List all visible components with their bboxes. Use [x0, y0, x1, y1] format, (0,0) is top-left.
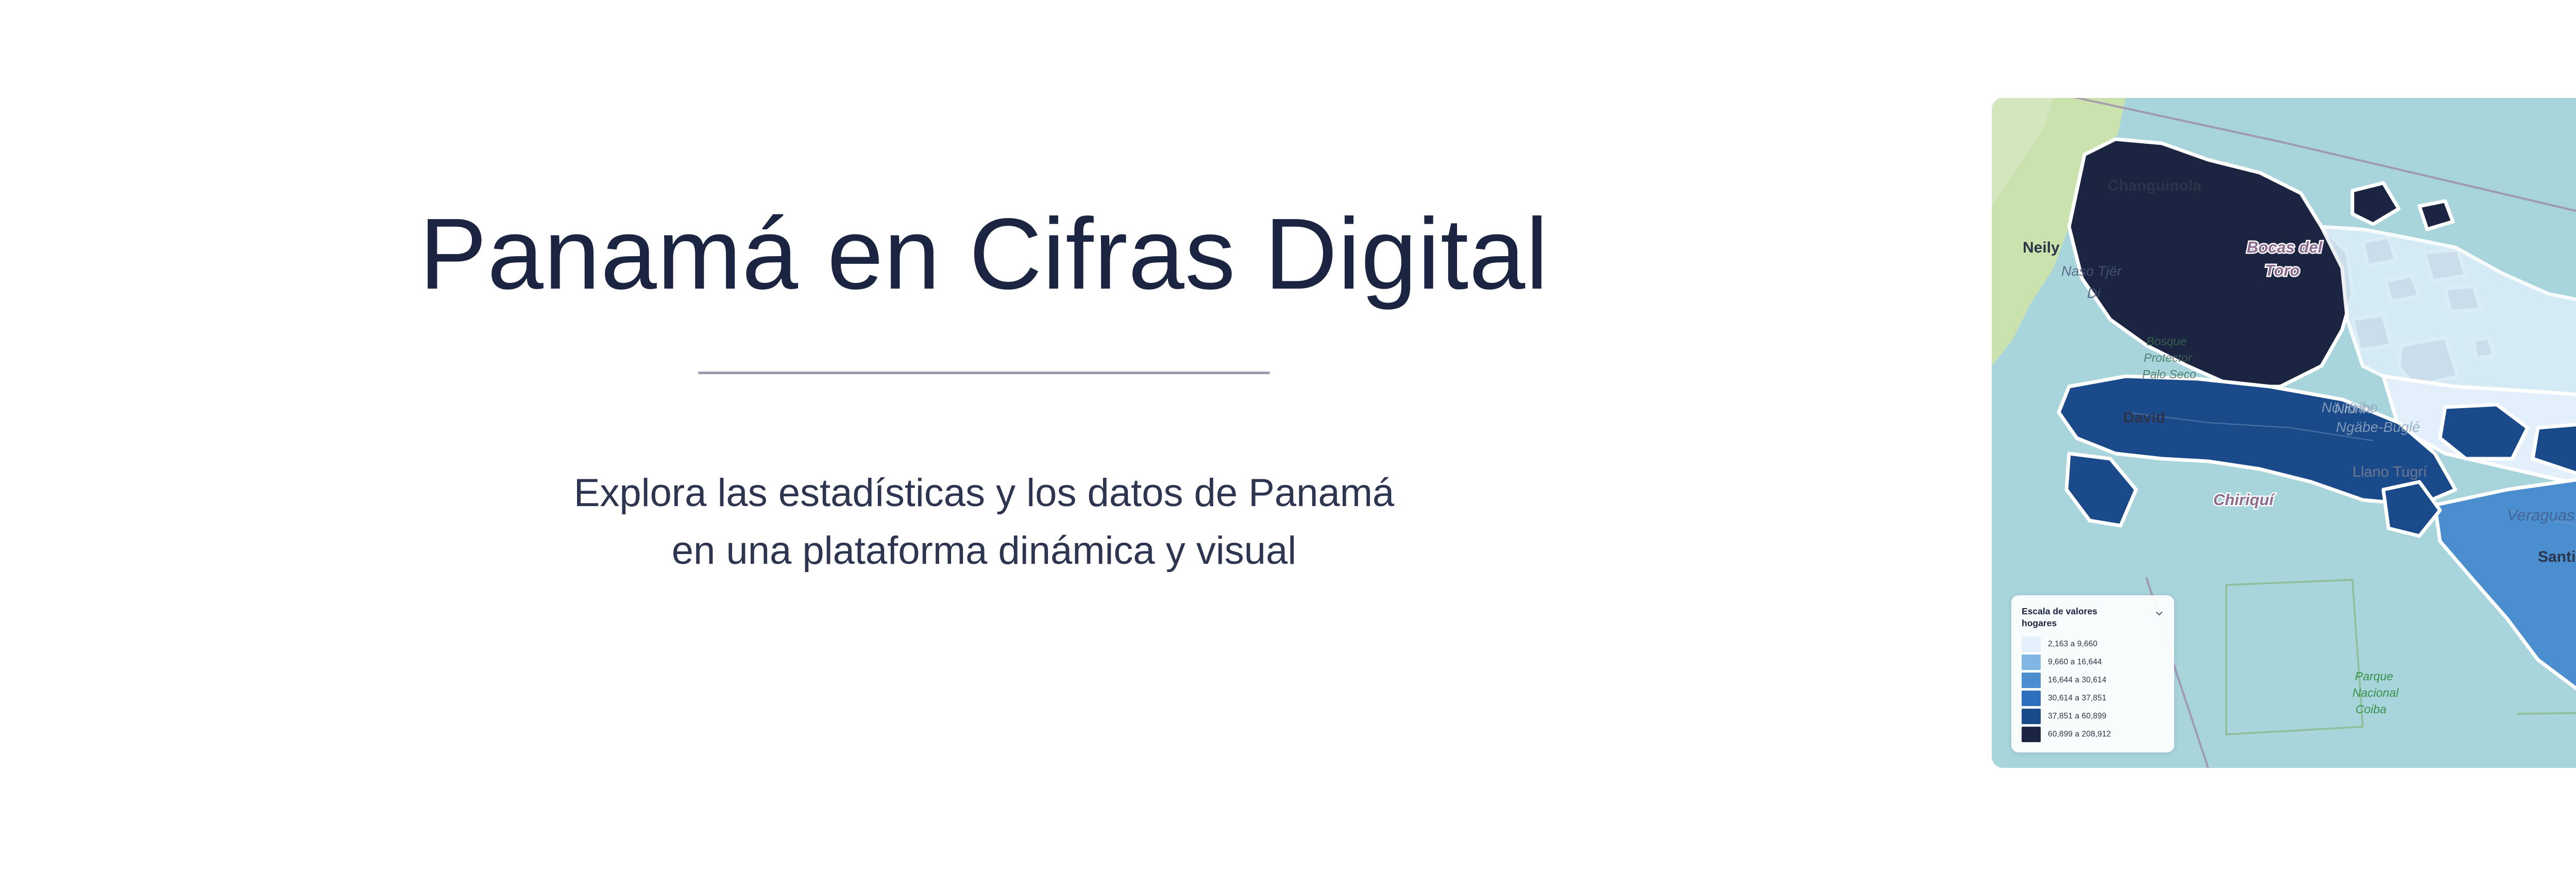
svg-text:Bosque: Bosque — [2146, 334, 2187, 348]
svg-text:Changuinola: Changuinola — [2108, 177, 2201, 194]
legend-color-swatch — [2022, 727, 2041, 742]
map-legend[interactable]: Escala de valores hogares 2,163 a 9,6609… — [2011, 595, 2174, 752]
svg-text:Palo Seco: Palo Seco — [2142, 367, 2196, 381]
svg-text:Neily: Neily — [2023, 239, 2060, 256]
legend-row[interactable]: 9,660 a 16,644 — [2022, 655, 2165, 670]
hero-section: Panamá en Cifras Digital Explora las est… — [0, 0, 1968, 871]
svg-text:Veraguas: Veraguas — [2507, 506, 2575, 524]
legend-row[interactable]: 30,614 a 37,851 — [2022, 691, 2165, 706]
svg-text:Ngäbe-Buglé: Ngäbe-Buglé — [2336, 419, 2420, 435]
map-panel[interactable]: Neily Changuinola Bocas del Toro Naso Tj… — [1992, 98, 2576, 768]
svg-text:Chiriquí: Chiriquí — [2213, 491, 2275, 509]
legend-entries: 2,163 a 9,6609,660 a 16,64416,644 a 30,6… — [2022, 636, 2165, 742]
legend-range-label: 60,899 a 208,912 — [2048, 730, 2111, 739]
legend-row[interactable]: 60,899 a 208,912 — [2022, 727, 2165, 742]
legend-color-swatch — [2022, 709, 2041, 724]
svg-text:Di: Di — [2087, 286, 2100, 301]
svg-text:Naso Tjër: Naso Tjër — [2061, 263, 2122, 279]
legend-title: Escala de valores hogares — [2022, 606, 2130, 629]
svg-text:Llano Tugrí: Llano Tugrí — [2352, 464, 2427, 480]
legend-range-label: 30,614 a 37,851 — [2048, 694, 2107, 703]
landing-page: Panamá en Cifras Digital Explora las est… — [0, 0, 2576, 871]
title-divider — [698, 372, 1270, 374]
legend-row[interactable]: 37,851 a 60,899 — [2022, 709, 2165, 724]
legend-color-swatch — [2022, 636, 2041, 652]
svg-text:Parque: Parque — [2355, 669, 2393, 683]
svg-text:Toro: Toro — [2265, 261, 2300, 279]
legend-range-label: 37,851 a 60,899 — [2048, 712, 2107, 721]
legend-range-label: 9,660 a 16,644 — [2048, 658, 2102, 667]
svg-text:David: David — [2123, 409, 2165, 426]
chevron-down-icon[interactable] — [2154, 608, 2165, 619]
legend-range-label: 16,644 a 30,614 — [2048, 676, 2107, 685]
svg-text:Nacional: Nacional — [2352, 686, 2399, 699]
svg-text:Protector: Protector — [2144, 351, 2193, 364]
page-title: Panamá en Cifras Digital — [419, 201, 1549, 307]
legend-range-label: 2,163 a 9,660 — [2048, 640, 2097, 649]
legend-color-swatch — [2022, 691, 2041, 706]
page-subtitle: Explora las estadísticas y los datos de … — [574, 464, 1395, 580]
legend-row[interactable]: 2,163 a 9,660 — [2022, 636, 2165, 652]
svg-text:Coiba: Coiba — [2355, 702, 2386, 716]
svg-text:Santiago: Santiago — [2538, 548, 2576, 565]
svg-text:Bocas del: Bocas del — [2247, 238, 2323, 256]
legend-row[interactable]: 16,644 a 30,614 — [2022, 673, 2165, 688]
svg-text:Nidrini: Nidrini — [2334, 401, 2375, 416]
legend-header: Escala de valores hogares — [2022, 606, 2165, 629]
legend-color-swatch — [2022, 673, 2041, 688]
legend-color-swatch — [2022, 655, 2041, 670]
